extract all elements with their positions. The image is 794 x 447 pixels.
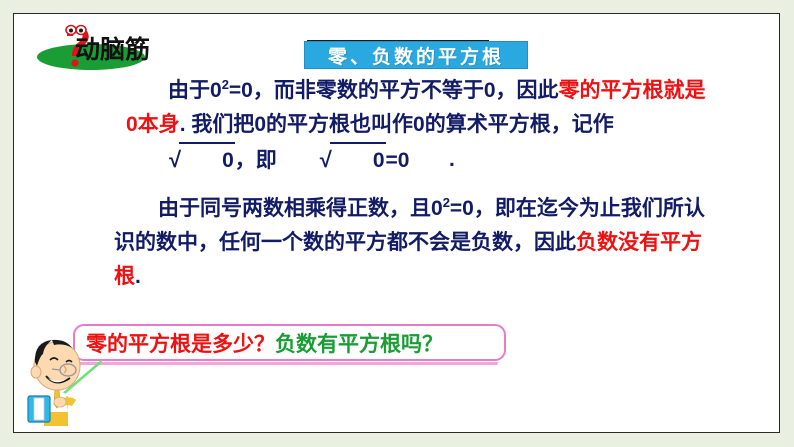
p2-superscript-1: 2 [443,195,450,210]
title-banner: 零、负数的平方根 [304,41,528,69]
title-banner-accent-line [307,28,489,42]
sqrt-expression-2: √0 [277,142,386,178]
paragraph-one: 由于02=0，而非零数的平方不等于0，因此零的平方根就是0本身. 我们把0的平方… [126,74,706,178]
brain-teaser-label: 动脑筋 [75,36,150,64]
title-banner-text: 零、负数的平方根 [328,42,504,69]
slide-canvas: 动脑筋 零、负数的平方根 由于02=0，而非零数的平方不等于0，因此零的平方根就… [13,13,780,433]
sqrt-expression-1: √0 [126,142,235,178]
paragraph-two: 由于同号两数相乘得正数，且02=0，即在迄今为止我们所认识的数中，任何一个数的平… [114,192,706,294]
p1-seg-2: =0，而非零数的平方不等于0，因此 [229,79,559,102]
p1-seg-5: =0 [386,149,410,172]
paragraph-one-trailing-dot: . [449,148,455,172]
cartoon-teacher-with-pointer-icon [22,326,102,433]
p1-superscript-1: 2 [222,77,229,92]
radicand-1: 0 [179,142,235,178]
question-callout-box: 零的平方根是多少？ 负数有平方根吗？ [73,324,506,361]
p2-seg-3: . [135,265,141,288]
question-red-text: 零的平方根是多少？ [86,328,275,358]
brain-teaser-logo: 动脑筋 [25,22,205,70]
question-green-text: 负数有平方根吗？ [275,328,443,358]
question-box-underline [78,362,498,365]
p2-seg-1: 由于同号两数相乘得正数，且0 [158,197,443,220]
p1-seg-3: . 我们把0的平方根也叫作0的算术平方根，记作 [180,113,614,136]
radicand-2: 0 [330,142,386,178]
p1-seg-4: ，即 [235,149,277,172]
p1-seg-1: 由于0 [168,79,222,102]
